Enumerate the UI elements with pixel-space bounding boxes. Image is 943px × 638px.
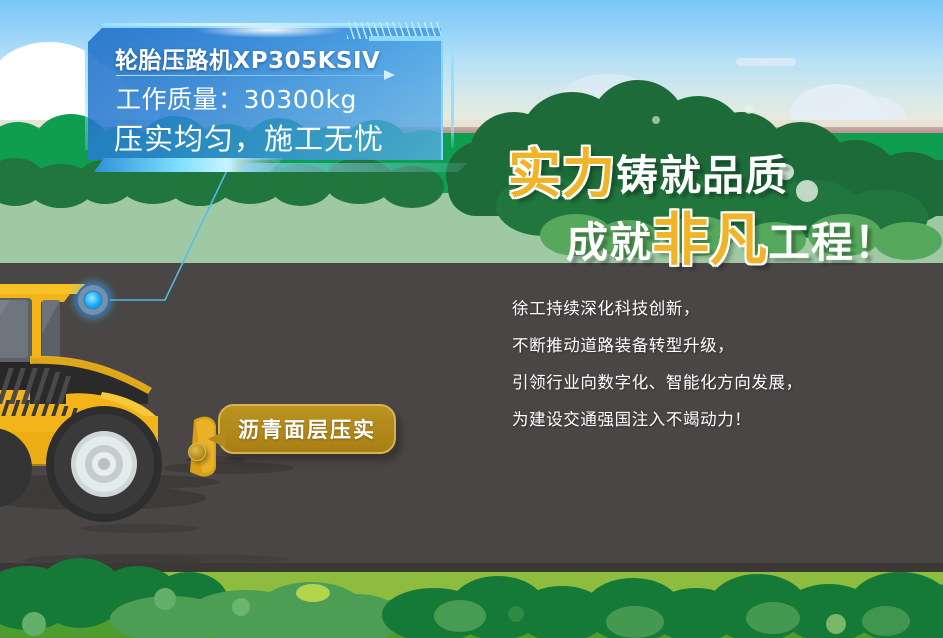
headline-group: 实力铸就品质 成就非凡工程！: [480, 128, 910, 268]
right-arrow-icon: [384, 70, 395, 80]
panel-title-rule: [116, 75, 384, 76]
machine-spec: 工作质量：30300kg: [116, 80, 357, 116]
headline-white-2b: 工程！: [768, 218, 897, 267]
panel-bottom-accent-secondary: [238, 163, 468, 172]
panel-right-border: [451, 36, 454, 148]
banner-canvas: 轮胎压路机XP305KSIV 工作质量：30300kg 压实均匀，施工无忧 实力…: [0, 0, 943, 638]
asphalt-callout-label: 沥青面层压实: [220, 406, 394, 452]
headline-gold-2: 非凡: [652, 207, 768, 273]
paragraph-line: 引领行业向数字化、智能化方向发展，: [512, 364, 803, 401]
machine-info-panel: 轮胎压路机XP305KSIV 工作质量：30300kg 压实均匀，施工无忧: [88, 28, 443, 160]
description-paragraph: 徐工持续深化科技创新， 不断推动道路装备转型升级， 引领行业向数字化、智能化方向…: [512, 290, 803, 438]
headline-white-1: 铸就品质: [616, 151, 788, 200]
machine-slogan: 压实均匀，施工无忧: [114, 116, 384, 158]
paragraph-line: 徐工持续深化科技创新，: [512, 290, 803, 327]
paragraph-line: 为建设交通强国注入不竭动力！: [512, 401, 803, 438]
panel-left-border: [85, 42, 88, 150]
blue-glow-marker-icon[interactable]: [76, 283, 110, 317]
headline-line-2: 成就非凡工程！: [566, 194, 897, 276]
headline-white-2a: 成就: [566, 218, 652, 267]
machine-title: 轮胎压路机XP305KSIV: [115, 41, 380, 75]
pneumatic-tire-roller: [0, 272, 232, 524]
paragraph-line: 不断推动道路装备转型升级，: [512, 327, 803, 364]
asphalt-callout-bubble[interactable]: 沥青面层压实: [218, 404, 396, 454]
gold-dot-icon: [188, 443, 206, 461]
